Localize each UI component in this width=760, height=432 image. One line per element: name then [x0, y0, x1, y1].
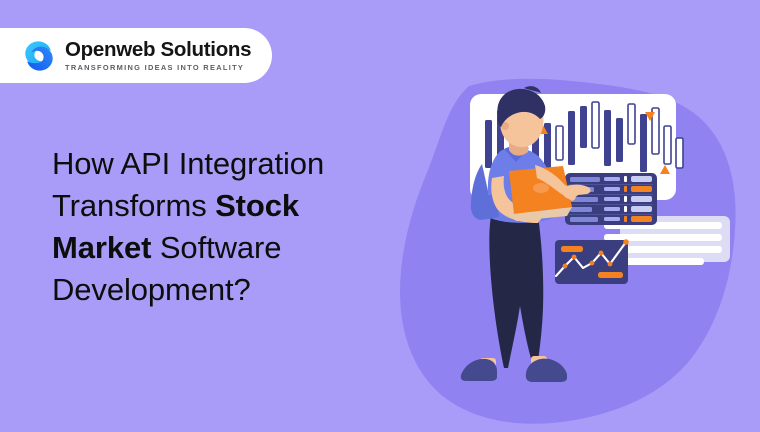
logo-card[interactable]: Openweb Solutions TRANSFORMING IDEAS INT…: [0, 28, 272, 83]
headline-line-2-bold: Stock: [215, 188, 299, 223]
company-name: Openweb Solutions: [65, 39, 251, 61]
company-tagline: TRANSFORMING IDEAS INTO REALITY: [65, 63, 251, 72]
stock-market-illustration: [398, 68, 760, 432]
headline-line-3-plain: Software: [151, 230, 281, 265]
headline-line-2-plain: Transforms: [52, 188, 215, 223]
page-title: How API Integration Transforms Stock Mar…: [52, 143, 397, 312]
headline-line-1: How API Integration: [52, 146, 324, 181]
headline-line-4: Development?: [52, 272, 251, 307]
banner-root: Openweb Solutions TRANSFORMING IDEAS INT…: [0, 0, 760, 432]
headline-line-3-bold: Market: [52, 230, 151, 265]
openweb-logo-icon: [22, 39, 56, 73]
